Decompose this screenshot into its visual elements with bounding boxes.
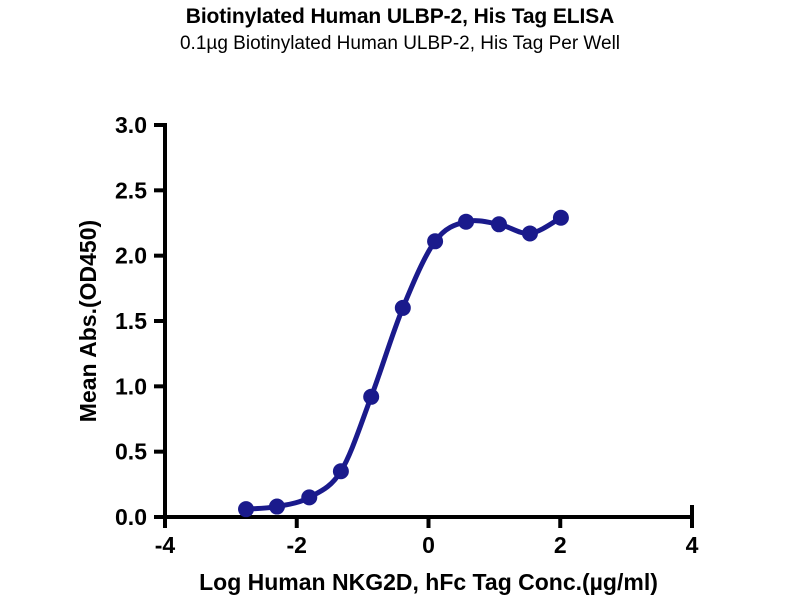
data-points (238, 210, 569, 517)
data-point-marker (522, 225, 538, 241)
data-point-marker (301, 489, 317, 505)
x-axis-title: Log Human NKG2D, hFc Tag Conc.(µg/ml) (199, 569, 658, 595)
data-point-marker (491, 216, 507, 232)
data-point-marker (238, 501, 254, 517)
fit-curve (246, 218, 561, 509)
x-tick-label: 4 (686, 532, 699, 558)
plot-area: 0.00.51.01.52.02.53.0 -4-2024 Mean Abs.(… (0, 0, 800, 600)
y-axis-title: Mean Abs.(OD450) (75, 220, 101, 422)
y-tick-label: 2.0 (115, 243, 147, 269)
elisa-chart-figure: Biotinylated Human ULBP-2, His Tag ELISA… (0, 0, 800, 600)
y-axis-ticks: 0.00.51.01.52.02.53.0 (115, 112, 165, 530)
y-tick-label: 3.0 (115, 112, 147, 138)
x-tick-label: 0 (422, 532, 435, 558)
y-tick-label: 0.5 (115, 439, 147, 465)
x-axis-ticks: -4-2024 (155, 517, 699, 558)
data-point-marker (363, 389, 379, 405)
y-tick-label: 2.5 (115, 177, 147, 203)
x-tick-label: 2 (554, 532, 567, 558)
data-point-marker (553, 210, 569, 226)
data-point-marker (333, 463, 349, 479)
x-tick-label: -2 (287, 532, 307, 558)
data-point-marker (427, 233, 443, 249)
y-tick-label: 1.0 (115, 373, 147, 399)
y-tick-label: 1.5 (115, 308, 147, 334)
data-point-marker (395, 300, 411, 316)
y-tick-label: 0.0 (115, 504, 147, 530)
data-point-marker (458, 214, 474, 230)
x-tick-label: -4 (155, 532, 176, 558)
data-point-marker (269, 499, 285, 515)
